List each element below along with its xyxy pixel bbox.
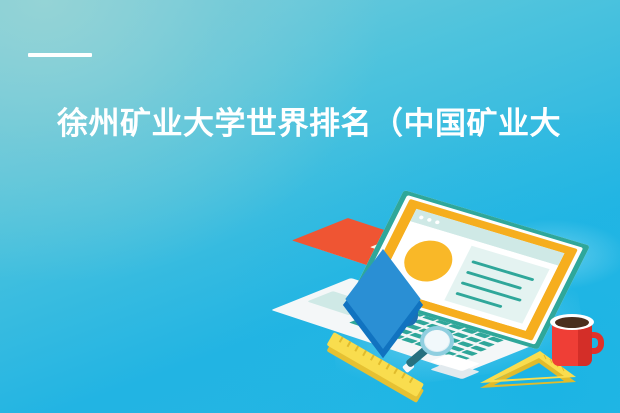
ruler-tick bbox=[393, 368, 397, 374]
mug-body-shade bbox=[578, 324, 592, 366]
ruler-tick bbox=[386, 364, 390, 370]
ruler-tick bbox=[362, 350, 366, 356]
page-title: 徐州矿业大学世界排名（中国矿业大 bbox=[57, 104, 620, 144]
ruler-tick bbox=[339, 337, 343, 343]
browser-dot-icon bbox=[418, 215, 424, 220]
mug-coffee-surface bbox=[555, 317, 589, 328]
ruler-tick bbox=[347, 341, 351, 347]
ruler-tick bbox=[401, 373, 405, 379]
ruler-tick bbox=[370, 355, 374, 361]
cover-canvas: 徐州矿业大学世界排名（中国矿业大 bbox=[0, 0, 620, 413]
ruler-tick bbox=[409, 377, 413, 383]
ruler-tick bbox=[354, 346, 358, 352]
illustration bbox=[326, 190, 620, 413]
ruler-tick bbox=[378, 359, 382, 365]
keyboard-key bbox=[461, 350, 478, 356]
browser-dot-icon bbox=[426, 218, 432, 223]
browser-dot-icon bbox=[434, 220, 440, 225]
magnifier-lens bbox=[425, 330, 449, 351]
page-text-line bbox=[471, 260, 534, 281]
accent-rule bbox=[28, 53, 92, 57]
keyboard-key bbox=[478, 341, 495, 347]
